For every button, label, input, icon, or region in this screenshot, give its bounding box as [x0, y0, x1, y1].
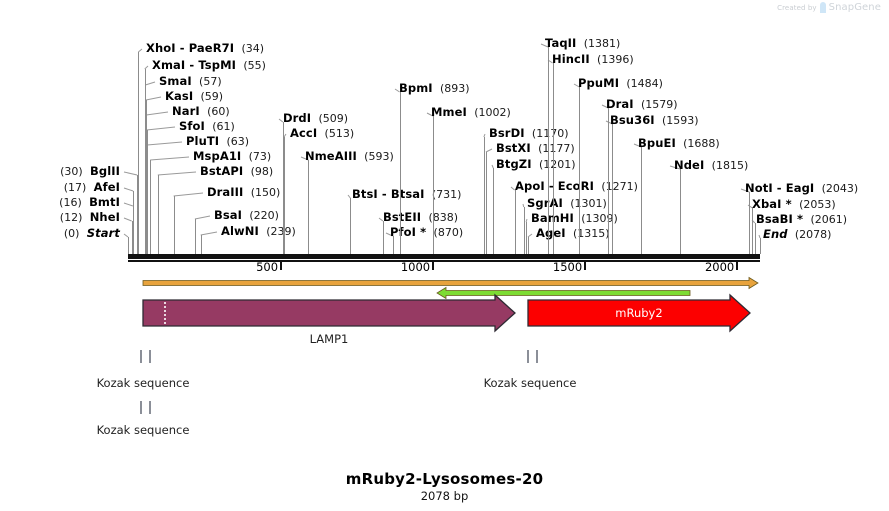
kozak-label: Kozak sequence	[85, 376, 201, 390]
feature-label-LAMP1: LAMP1	[269, 332, 389, 346]
kozak-label: Kozak sequence	[472, 376, 588, 390]
kozak-marker-icon	[140, 350, 151, 363]
kozak-marker-icon	[527, 350, 538, 363]
kozak-label: Kozak sequence	[85, 423, 201, 437]
sequence-length-label: 2078 bp	[0, 489, 889, 503]
feature-label-mRuby2: mRuby2	[579, 306, 699, 320]
kozak-marker-icon	[140, 401, 151, 414]
sequence-map-canvas: Created by SnapGene XhoI - PaeR7I (34)Xm…	[0, 0, 889, 511]
page-title: mRuby2-Lysosomes-20	[0, 470, 889, 488]
orange-range-arrow	[143, 278, 758, 289]
feature-arrow-LAMP1[interactable]	[143, 295, 515, 331]
green-range-arrow	[437, 288, 690, 299]
